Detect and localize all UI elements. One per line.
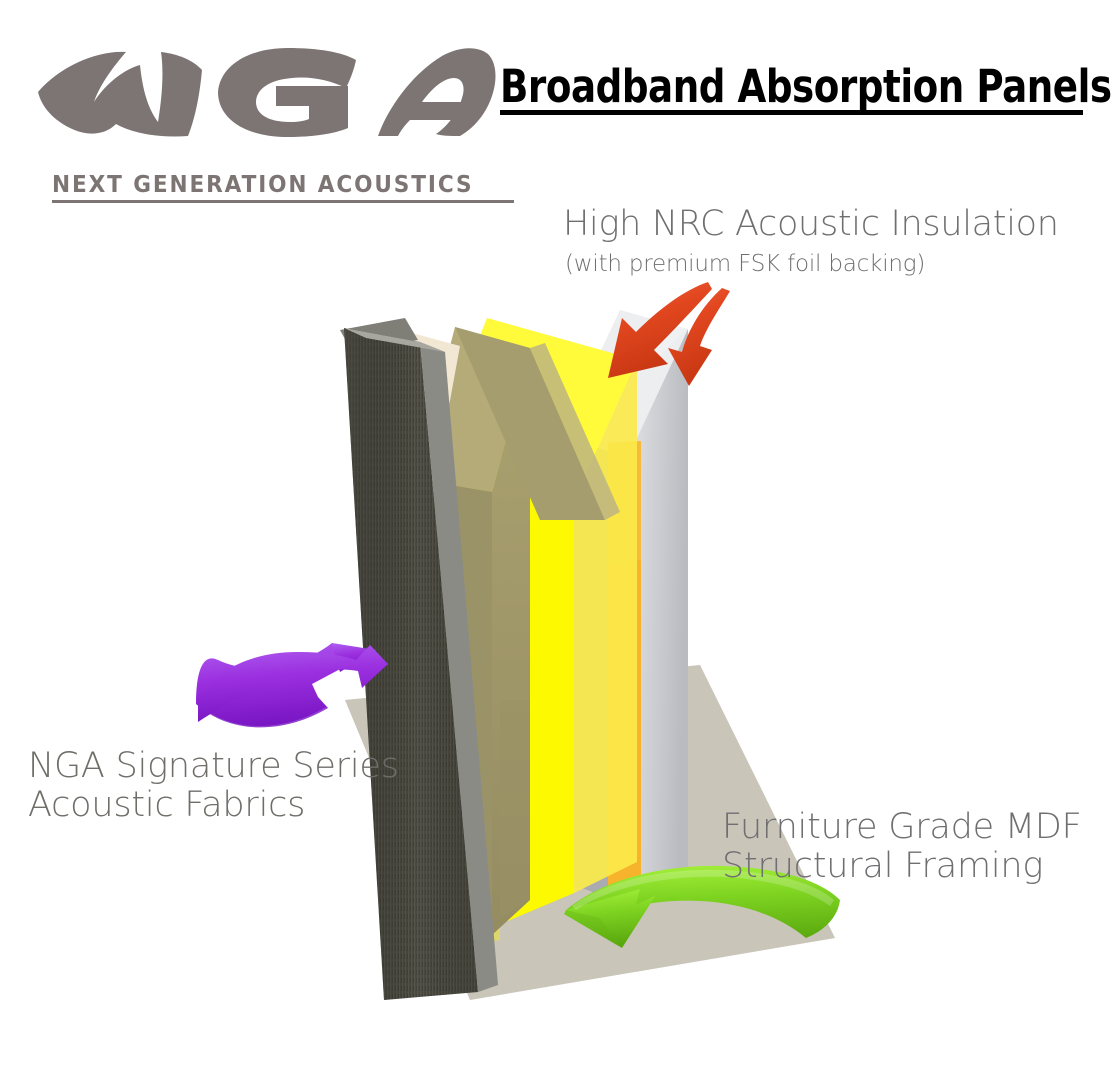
arrow-fabric (196, 643, 376, 735)
page-title: Broadband Absorption Panels (500, 60, 1052, 113)
arrow-fabric-shape (198, 645, 388, 722)
arrow-insulation-primary (608, 282, 714, 378)
arrow-insulation-secondary (668, 288, 733, 386)
layer-mdf-top-face (382, 333, 460, 520)
layer-acoustic-fabric (340, 318, 498, 1000)
annotation-insulation-sublabel: (with premium FSK foil backing) (565, 251, 925, 277)
page-title-underline (500, 110, 1083, 115)
layer-fsk-foil-backing (560, 310, 688, 905)
annotation-mdf-label: Furniture Grade MDF Structural Framing (722, 808, 1082, 886)
nga-logo: NEXT GENERATION ACOUSTICS (30, 40, 500, 165)
logo-underline (52, 200, 514, 203)
annotation-fabric-label: NGA Signature Series Acoustic Fabrics (28, 747, 399, 825)
layer-acoustic-insulation (427, 318, 637, 955)
layer-insulation-back (608, 441, 641, 897)
logo-tagline: NEXT GENERATION ACOUSTICS (52, 172, 486, 198)
nga-wordmark-icon (30, 40, 500, 140)
layer-mdf-frame (415, 327, 620, 968)
annotation-insulation-label: High NRC Acoustic Insulation (563, 205, 1059, 244)
poster-canvas: NEXT GENERATION ACOUSTICS Broadband Abso… (0, 0, 1118, 1069)
